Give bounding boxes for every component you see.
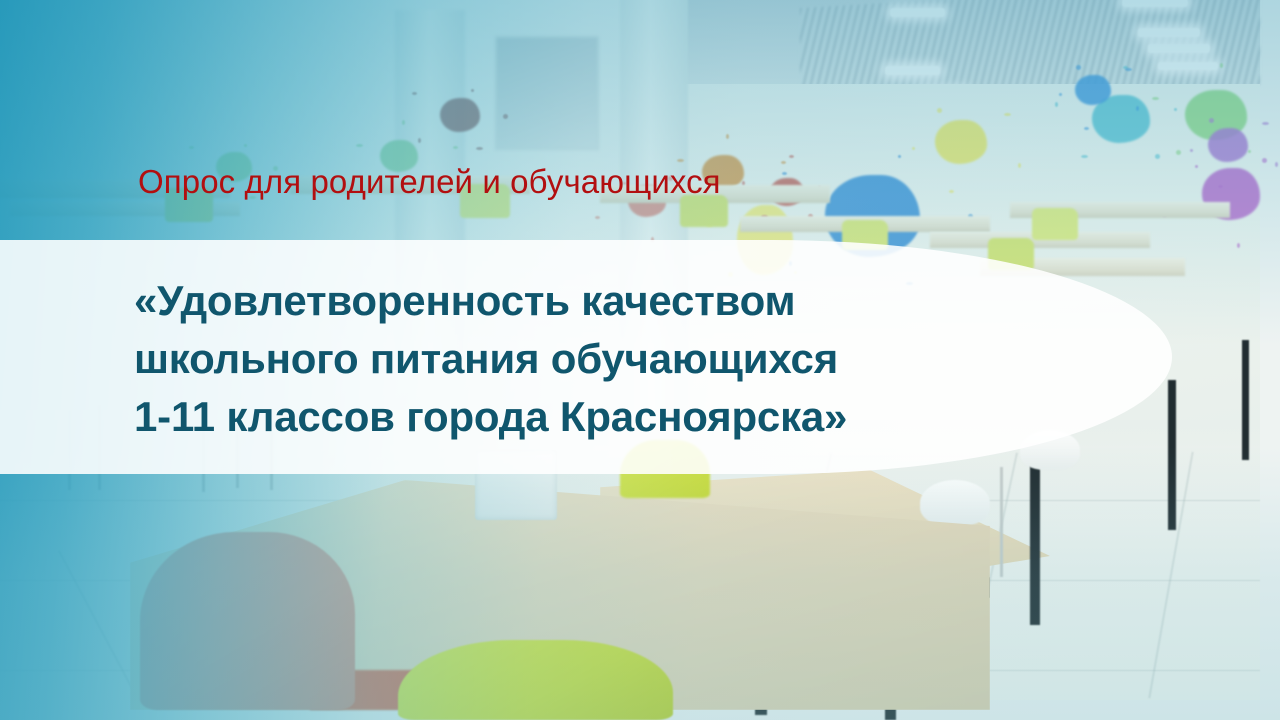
title-line: школьного питания обучающихся bbox=[134, 330, 847, 388]
title-line: 1-11 классов города Красноярска» bbox=[134, 388, 847, 446]
page-title: «Удовлетворенность качеством школьного п… bbox=[134, 272, 847, 446]
title-line: «Удовлетворенность качеством bbox=[134, 272, 847, 330]
kicker-text: Опрос для родителей и обучающихся bbox=[138, 163, 721, 201]
slide-canvas: Опрос для родителей и обучающихся «Удовл… bbox=[0, 0, 1280, 720]
